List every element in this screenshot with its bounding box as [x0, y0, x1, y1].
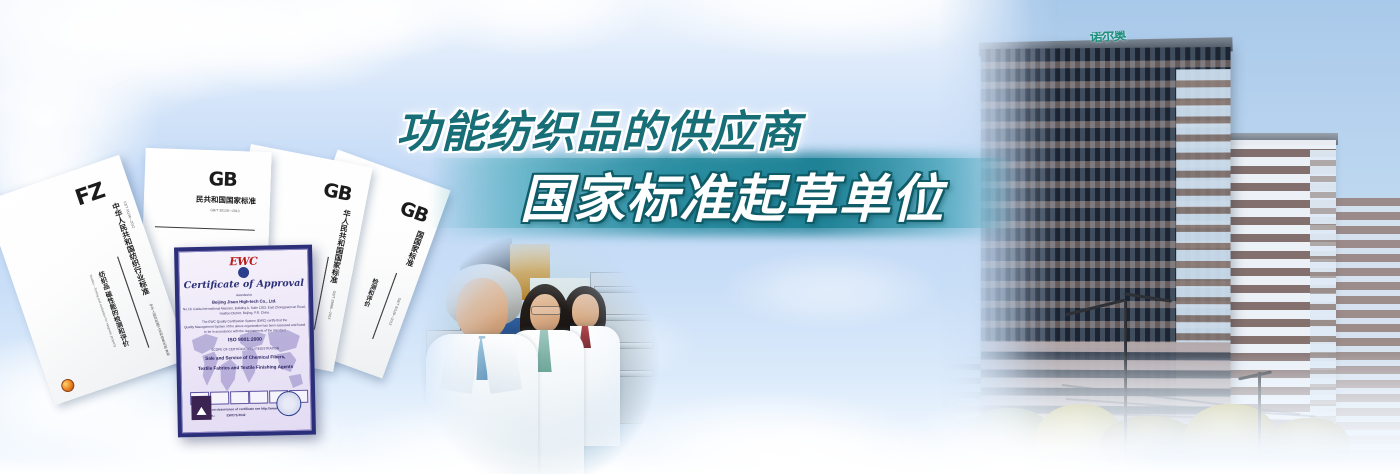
standard-code: GB/T 29866—2013	[327, 290, 336, 319]
building-bottom-mist	[938, 354, 1400, 474]
national-emblem-icon	[60, 377, 77, 394]
certification-seal-icon	[276, 391, 302, 417]
rooftop-sign: 诺尔奥	[1089, 30, 1144, 59]
cloud-shape	[280, 0, 480, 62]
detail-box	[249, 391, 268, 404]
ukas-accreditation-icon	[191, 396, 211, 420]
detail-box	[210, 391, 229, 404]
standard-subtitle: 检测和评价	[361, 277, 380, 308]
face	[572, 294, 599, 328]
cloud-shape	[720, 250, 940, 330]
world-map-watermark	[184, 324, 309, 399]
standard-publisher: 中华人民共和国工业和信息化部 发布	[148, 302, 171, 356]
promo-banner: 诺尔奥	[0, 0, 1400, 474]
certificate-heading: Certificate of Approval	[180, 278, 308, 292]
cloud-shape	[400, 0, 660, 56]
detail-box	[230, 391, 249, 404]
cloud-shape	[40, 0, 340, 102]
headline-line-2: 国家标准起草单位	[520, 157, 944, 232]
standard-code: GB/T 30128—2013	[388, 297, 402, 326]
iso-9001-certificate: EWC Certificate of Approval Awarded to B…	[174, 245, 316, 438]
eyeglasses	[531, 306, 561, 315]
lab-shelf	[594, 286, 654, 293]
anchor-icon	[238, 267, 249, 278]
certificate-no: EWC71/4042	[227, 413, 246, 418]
cloud-shape	[680, 420, 980, 474]
iso-certificate-body: EWC Certificate of Approval Awarded to B…	[178, 249, 312, 434]
headline-line-1: 功能纺织品的供应商	[396, 96, 801, 160]
cloud-shape	[170, 0, 420, 94]
headline-block: 功能纺织品的供应商 国家标准起草单位	[0, 96, 1010, 246]
